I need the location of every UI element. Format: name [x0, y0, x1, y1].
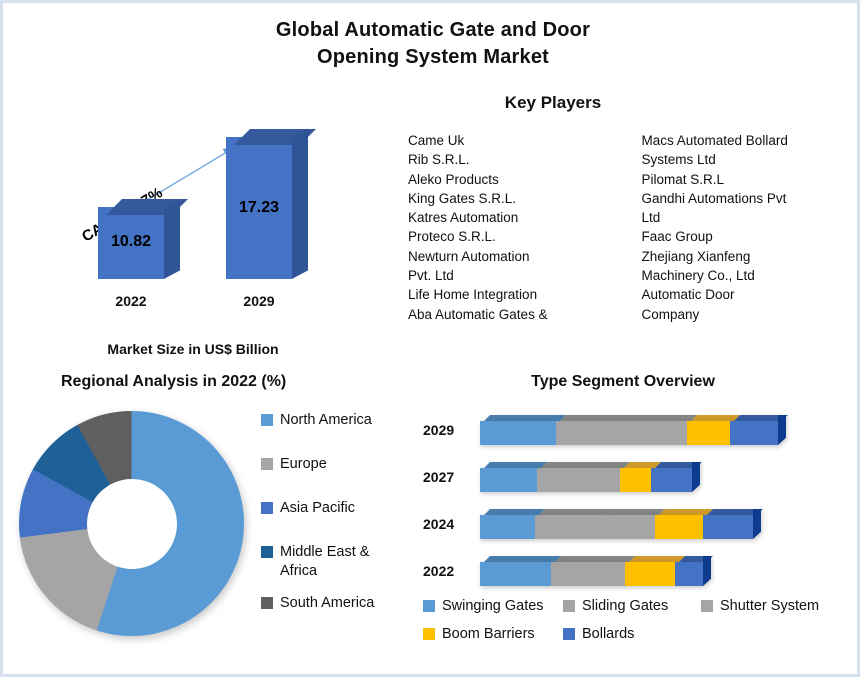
- key-player-item: Ltd: [642, 208, 854, 227]
- bar-segment-top: [541, 462, 630, 468]
- legend-swatch-icon: [563, 600, 575, 612]
- key-players-title: Key Players: [408, 93, 698, 113]
- bar-end-cap: [778, 415, 786, 445]
- legend-label: Shutter System: [720, 598, 819, 614]
- key-player-item: Pvt. Ltd: [408, 266, 620, 285]
- legend-swatch-icon: [261, 597, 273, 609]
- type-segment-legend: Swinging Gates Sliding Gates Shutter Sys…: [423, 598, 853, 654]
- stacked-bar-row: 2024: [413, 503, 853, 550]
- infographic-page: Global Automatic Gate and Door Opening S…: [0, 0, 860, 677]
- donut-hole: [87, 479, 177, 569]
- regional-donut-chart: [19, 411, 254, 641]
- stacked-bar-2027: [480, 462, 700, 492]
- bar-segment-bollards: [651, 468, 692, 492]
- key-players-column-left: Came Uk Rib S.R.L. Aleko Products King G…: [408, 131, 620, 324]
- key-player-item: Came Uk: [408, 131, 620, 150]
- row-year-label: 2022: [423, 563, 454, 579]
- key-players-column-right: Macs Automated Bollard Systems Ltd Pilom…: [642, 131, 854, 324]
- legend-row-2: Boom Barriers Bollards: [423, 626, 853, 642]
- legend-item-asia-pacific: Asia Pacific: [261, 499, 421, 517]
- key-player-item: Company: [642, 305, 854, 324]
- bar-2029-side: [292, 128, 308, 279]
- bar-segment-bollards: [703, 515, 753, 539]
- regional-analysis-title: Regional Analysis in 2022 (%): [21, 373, 416, 391]
- bar-end-cap: [692, 462, 700, 492]
- market-size-chart: CAGR 6.87% 10.82 2022 17.23 2029 Market …: [43, 113, 393, 363]
- key-player-item: Proteco S.R.L.: [408, 227, 620, 246]
- stacked-bar-2024: [480, 509, 761, 539]
- legend-item-north-america: North America: [261, 411, 421, 429]
- key-player-item: Automatic Door: [642, 285, 854, 304]
- legend-item-swinging-gates: Swinging Gates: [423, 598, 563, 614]
- key-player-item: Faac Group: [642, 227, 854, 246]
- legend-swatch-icon: [261, 502, 273, 514]
- legend-item-boom-barriers: Boom Barriers: [423, 626, 563, 642]
- legend-item-bollards: Bollards: [563, 626, 634, 642]
- bar-segment-bollards: [675, 562, 703, 586]
- bar-2029-year: 2029: [226, 293, 292, 309]
- bar-segment-top: [560, 415, 697, 421]
- key-player-item: Newturn Automation: [408, 247, 620, 266]
- bar-segment-swinging-gates: [480, 515, 535, 539]
- key-player-item: Macs Automated Bollard: [642, 131, 854, 150]
- bar-segment-sliding-gates: [556, 421, 687, 445]
- bar-segment-top: [555, 556, 635, 562]
- bar-segment-top: [484, 415, 566, 421]
- legend-row-1: Swinging Gates Sliding Gates Shutter Sys…: [423, 598, 853, 614]
- legend-item-middle-east-africa: Middle East & Africa: [261, 543, 421, 579]
- bar-segment-boom-barriers: [687, 421, 730, 445]
- legend-label: Boom Barriers: [442, 626, 535, 642]
- stacked-bar-2022: [480, 556, 711, 586]
- key-player-item: Pilomat S.R.L: [642, 170, 854, 189]
- legend-label: North America: [280, 411, 372, 429]
- cagr-arrow-group: CAGR 6.87%: [43, 113, 393, 363]
- bar-segment-sliding-gates: [551, 562, 625, 586]
- key-player-item: Machinery Co., Ltd: [642, 266, 854, 285]
- stacked-bar-row: 2027: [413, 456, 853, 503]
- bar-segment-swinging-gates: [480, 421, 556, 445]
- key-player-item: Gandhi Automations Pvt: [642, 189, 854, 208]
- key-player-item: Rib S.R.L.: [408, 150, 620, 169]
- legend-swatch-icon: [423, 600, 435, 612]
- bar-segment-boom-barriers: [620, 468, 651, 492]
- legend-item-europe: Europe: [261, 455, 421, 473]
- legend-item-sliding-gates: Sliding Gates: [563, 598, 701, 614]
- bar-2022-side: [164, 198, 180, 279]
- bar-segment-swinging-gates: [480, 468, 537, 492]
- cagr-arrow-icon: [43, 113, 393, 363]
- bar-end-cap: [703, 556, 711, 586]
- stacked-bar-2029: [480, 415, 786, 445]
- type-segment-title: Type Segment Overview: [413, 373, 833, 391]
- key-player-item: Aleko Products: [408, 170, 620, 189]
- legend-swatch-icon: [701, 600, 713, 612]
- bar-segment-sliding-gates: [535, 515, 602, 539]
- legend-label: Asia Pacific: [280, 499, 355, 517]
- row-year-label: 2024: [423, 516, 454, 532]
- title-line-1: Global Automatic Gate and Door: [276, 19, 590, 41]
- legend-swatch-icon: [261, 414, 273, 426]
- bar-2022-value: 10.82: [98, 233, 164, 251]
- bar-segment-swinging-gates: [480, 562, 551, 586]
- row-year-label: 2029: [423, 422, 454, 438]
- key-player-item: Katres Automation: [408, 208, 620, 227]
- legend-item-shutter-system: Shutter System: [701, 598, 819, 614]
- bar-2022-year: 2022: [98, 293, 164, 309]
- key-player-item: King Gates S.R.L.: [408, 189, 620, 208]
- bar-2022: 10.82: [98, 207, 164, 279]
- regional-legend: North America Europe Asia Pacific Middle…: [261, 411, 421, 612]
- legend-label: Bollards: [582, 626, 634, 642]
- legend-swatch-icon: [423, 628, 435, 640]
- legend-swatch-icon: [563, 628, 575, 640]
- bar-end-cap: [753, 509, 761, 539]
- bar-2029: 17.23: [226, 137, 292, 279]
- bar-segment-boom-barriers: [655, 515, 703, 539]
- stacked-bar-row: 2029: [413, 409, 853, 456]
- legend-label: Swinging Gates: [442, 598, 544, 614]
- key-player-item: Zhejiang Xianfeng: [642, 247, 854, 266]
- page-title: Global Automatic Gate and Door Opening S…: [3, 17, 860, 71]
- legend-swatch-icon: [261, 546, 273, 558]
- key-player-item: Systems Ltd: [642, 150, 854, 169]
- regional-analysis-panel: Regional Analysis in 2022 (%) North Amer…: [21, 373, 416, 663]
- bar-2029-value: 17.23: [226, 199, 292, 217]
- bar-segment-shutter-system: [602, 515, 655, 539]
- legend-label: Europe: [280, 455, 327, 473]
- key-player-item: Aba Automatic Gates &: [408, 305, 620, 324]
- bar-segment-bollards: [730, 421, 778, 445]
- legend-item-south-america: South America: [261, 594, 421, 612]
- legend-swatch-icon: [261, 458, 273, 470]
- bar-segment-top: [484, 556, 561, 562]
- key-player-item: Life Home Integration: [408, 285, 620, 304]
- market-size-caption: Market Size in US$ Billion: [43, 341, 343, 357]
- legend-label: South America: [280, 594, 374, 612]
- type-segment-panel: Type Segment Overview 2029 2027 2024 202…: [413, 373, 853, 663]
- stacked-bar-row: 2022: [413, 550, 853, 597]
- legend-label: Sliding Gates: [582, 598, 668, 614]
- legend-label: Middle East & Africa: [280, 543, 395, 579]
- type-segment-rows: 2029 2027 2024 2022: [413, 409, 853, 597]
- bar-segment-sliding-gates: [537, 468, 620, 492]
- row-year-label: 2027: [423, 469, 454, 485]
- key-players-panel: Key Players Came Uk Rib S.R.L. Aleko Pro…: [408, 93, 853, 324]
- title-line-2: Opening System Market: [3, 44, 860, 71]
- bar-segment-boom-barriers: [625, 562, 675, 586]
